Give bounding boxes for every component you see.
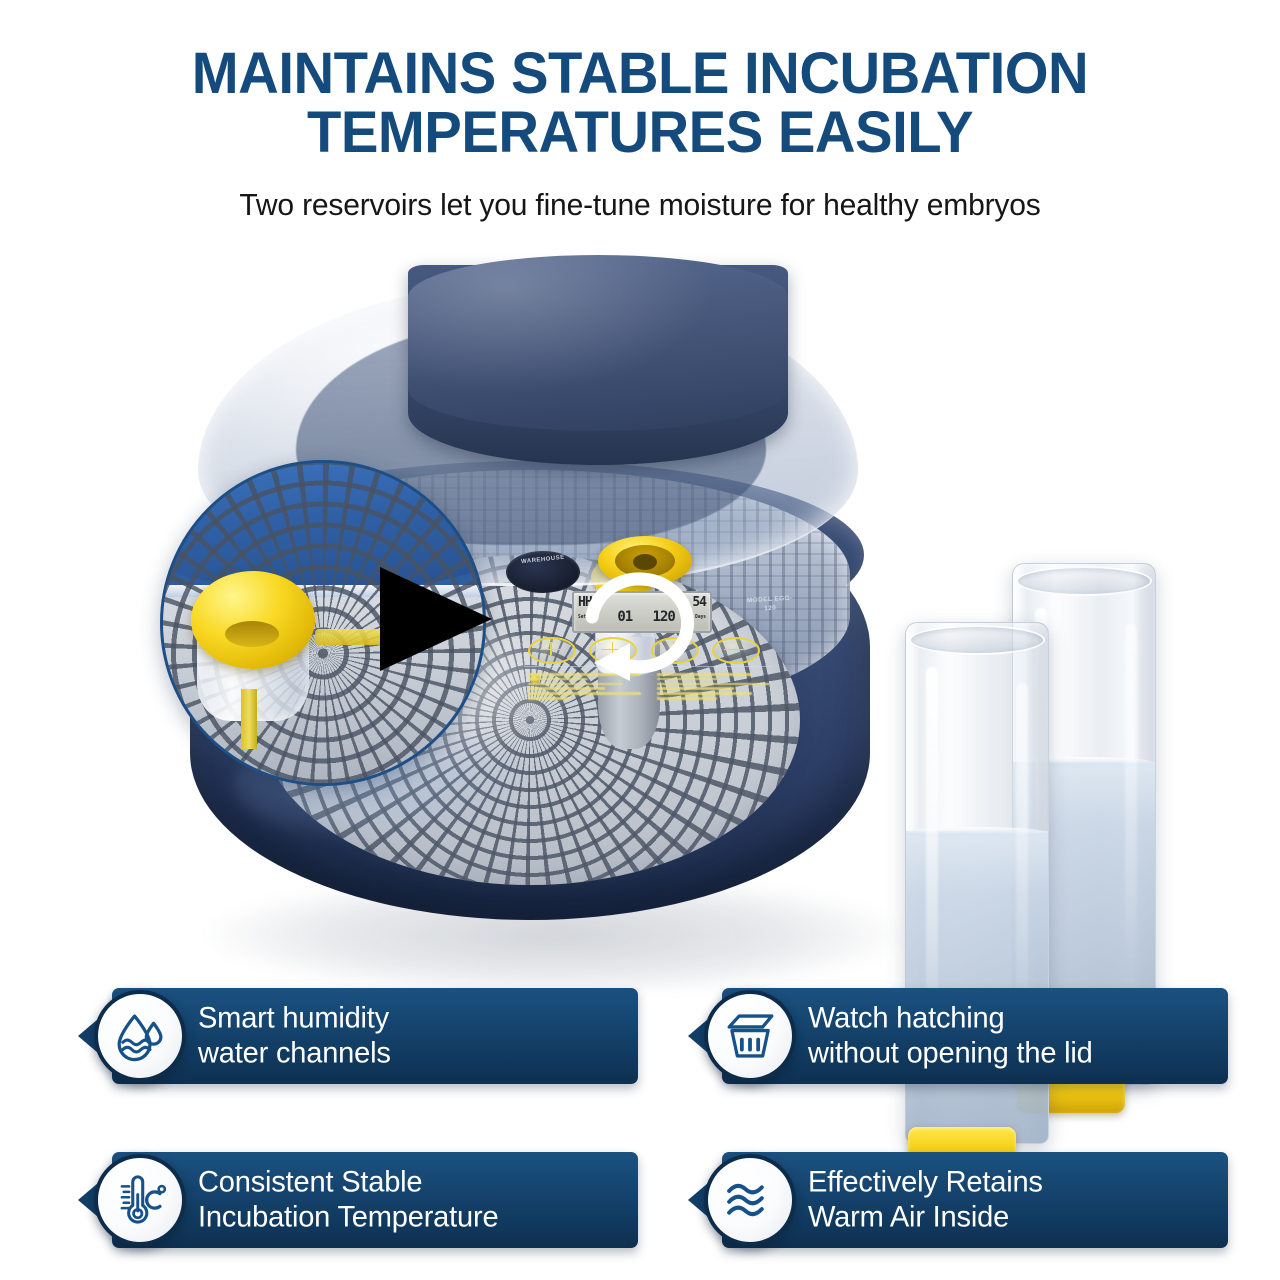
badge-label-line-2: water channels: [198, 1036, 616, 1071]
magnified-port-knob: [191, 571, 315, 669]
tube-mouth-back: [1016, 566, 1152, 596]
badge-label-line-2: Incubation Temperature: [198, 1200, 616, 1235]
black-pointer-arrow: [380, 567, 492, 671]
badge-label: Smart humidity water channels: [198, 1001, 616, 1072]
feature-badge-stable-temperature[interactable]: Consistent Stable Incubation Temperature: [78, 1152, 638, 1248]
badge-label-line-1: Effectively Retains: [808, 1165, 1206, 1200]
header: MAINTAINS STABLE INCUBATION TEMPERATURES…: [0, 0, 1280, 223]
magnified-port-stem: [241, 689, 257, 749]
air-waves-icon: [704, 1154, 796, 1246]
badge-label-line-1: Consistent Stable: [198, 1165, 616, 1200]
feature-badge-grid: Smart humidity water channels Watch hatc…: [0, 972, 1280, 1272]
feature-badge-retains-warm-air[interactable]: Effectively Retains Warm Air Inside: [688, 1152, 1228, 1248]
badge-label: Effectively Retains Warm Air Inside: [808, 1165, 1206, 1236]
control-module-top: [408, 255, 788, 431]
headline-line-2: TEMPERATURES EASILY: [126, 103, 1154, 162]
model-code-label: MODEL EGG-120: [742, 594, 799, 616]
feature-badge-watch-hatching[interactable]: Watch hatching without opening the lid: [688, 988, 1228, 1084]
page-title: MAINTAINS STABLE INCUBATION TEMPERATURES…: [126, 44, 1154, 162]
water-drop-waves-icon: [94, 990, 186, 1082]
badge-label-line-2: without opening the lid: [808, 1036, 1206, 1071]
badge-label-line-1: Smart humidity: [198, 1001, 616, 1036]
magnified-port-slot: [225, 621, 279, 647]
magnified-water-port: [191, 571, 319, 721]
feature-badge-smart-humidity[interactable]: Smart humidity water channels: [78, 988, 638, 1084]
badge-label: Consistent Stable Incubation Temperature: [198, 1165, 616, 1236]
tube-mouth-front: [909, 625, 1045, 655]
minus-button-4[interactable]: [712, 637, 760, 664]
subheadline: Two reservoirs let you fine-tune moistur…: [10, 188, 1271, 223]
thermometer-celsius-icon: [94, 1154, 186, 1246]
product-hero: WAREHOUSE HH0 54 Setting 01 120 Days: [0, 255, 1280, 975]
incubator-open-lid-icon: [704, 990, 796, 1082]
badge-label: Watch hatching without opening the lid: [808, 1001, 1206, 1072]
badge-label-line-2: Warm Air Inside: [808, 1200, 1206, 1235]
tube-glint-back-2: [1125, 624, 1137, 964]
white-rotation-arrow: [560, 555, 710, 705]
badge-label-line-1: Watch hatching: [808, 1001, 1206, 1036]
headline-line-1: MAINTAINS STABLE INCUBATION: [192, 41, 1088, 106]
